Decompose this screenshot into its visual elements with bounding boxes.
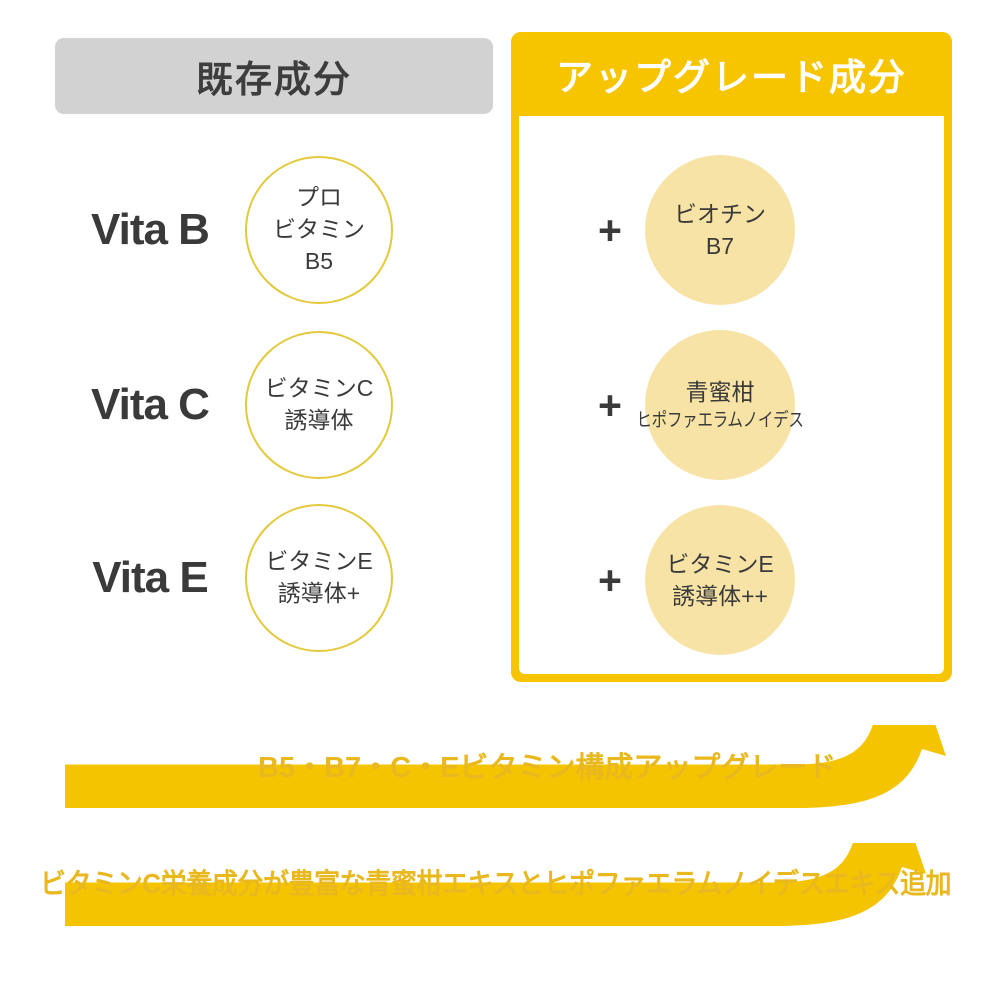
existing-circle-line: ビタミンC bbox=[265, 373, 374, 405]
existing-panel-title: 既存成分 bbox=[196, 49, 352, 103]
plus-icon: + bbox=[575, 385, 645, 426]
existing-circle-line: 誘導体+ bbox=[278, 578, 360, 610]
plus-icon: + bbox=[575, 210, 645, 251]
arrow-1-caption: B5・B7・C・Eビタミン構成アップグレード bbox=[258, 744, 836, 786]
upgrade-circle-biotin: ビオチン B7 bbox=[645, 155, 795, 305]
existing-panel-header: 既存成分 bbox=[55, 38, 493, 114]
plus-icon: + bbox=[575, 560, 645, 601]
upgrade-circle-green-mandarin: 青蜜柑 ヒポファエラムノイデス bbox=[645, 330, 795, 480]
existing-circle-line: プロ bbox=[296, 182, 342, 214]
upgrade-circle-line: ビタミンE bbox=[666, 548, 773, 580]
vita-label-b: Vita B bbox=[55, 205, 245, 255]
upgrade-row-vitamin-e: + ビタミンE 誘導体++ bbox=[575, 500, 915, 660]
vita-label-c: Vita C bbox=[55, 380, 245, 430]
existing-row-vita-e: Vita E ビタミンE 誘導体+ bbox=[55, 498, 495, 658]
upgrade-arrow-2: ビタミンC栄養成分が豊富な青蜜柑エキスとヒポファエラムノイデスエキス追加 bbox=[0, 843, 1000, 983]
vita-label-e: Vita E bbox=[55, 553, 245, 603]
existing-row-vita-c: Vita C ビタミンC 誘導体 bbox=[55, 325, 495, 485]
existing-circle-line: B5 bbox=[305, 246, 333, 278]
infographic-canvas: 既存成分 アップグレード成分 Vita B プロ ビタミン B5 Vita C … bbox=[0, 0, 1000, 1000]
existing-circle-vita-c: ビタミンC 誘導体 bbox=[245, 331, 393, 479]
existing-circle-vita-e: ビタミンE 誘導体+ bbox=[245, 504, 393, 652]
upgrade-row-biotin: + ビオチン B7 bbox=[575, 150, 915, 310]
arrow-2-caption: ビタミンC栄養成分が豊富な青蜜柑エキスとヒポファエラムノイデスエキス追加 bbox=[40, 862, 951, 902]
upgrade-circle-vitamin-e: ビタミンE 誘導体++ bbox=[645, 505, 795, 655]
upgrade-circle-line: 誘導体++ bbox=[672, 580, 768, 612]
upgrade-row-green-mandarin: + 青蜜柑 ヒポファエラムノイデス bbox=[575, 325, 915, 485]
upgrade-circle-line: ヒポファエラムノイデス bbox=[636, 408, 803, 435]
existing-row-vita-b: Vita B プロ ビタミン B5 bbox=[55, 150, 495, 310]
existing-circle-vita-b: プロ ビタミン B5 bbox=[245, 156, 393, 304]
existing-circle-line: ビタミン bbox=[273, 214, 365, 246]
upgrade-panel-title: アップグレード成分 bbox=[556, 47, 907, 101]
existing-circle-line: ビタミンE bbox=[265, 546, 372, 578]
existing-circle-line: 誘導体 bbox=[285, 405, 354, 437]
upgrade-panel-header: アップグレード成分 bbox=[511, 32, 952, 116]
upgrade-circle-line: 青蜜柑 bbox=[686, 376, 755, 408]
upgrade-circle-line: ビオチン bbox=[674, 198, 766, 230]
upgrade-circle-line: B7 bbox=[706, 230, 734, 262]
